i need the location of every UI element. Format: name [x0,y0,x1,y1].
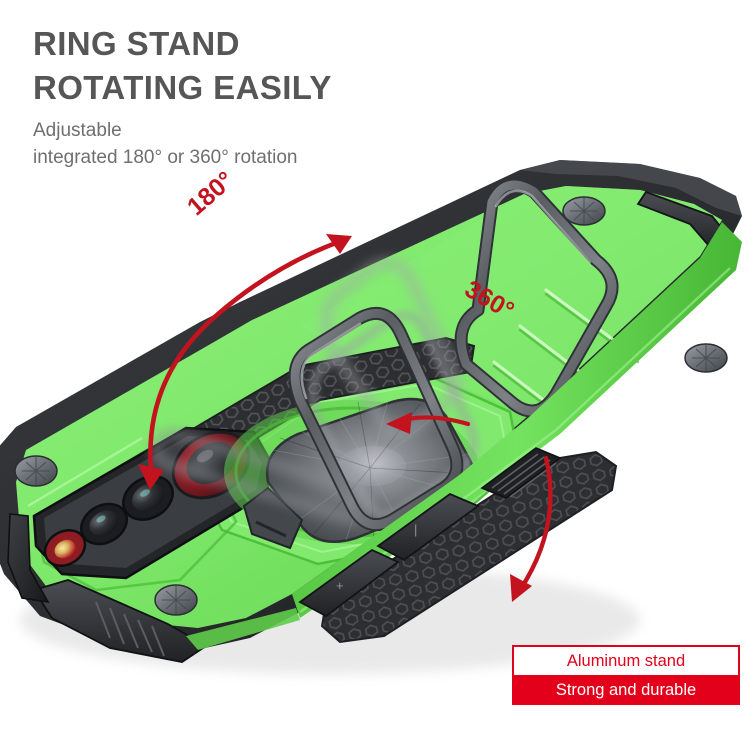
page-title: RING STAND ROTATING EASILY [33,22,573,109]
product-marketing-image: RING STAND ROTATING EASILY Adjustable in… [0,0,750,750]
headline-line-2: ROTATING EASILY [33,66,573,110]
product-photo: + | [0,150,750,710]
screw-accent [15,456,57,486]
volume-down-label: | [414,522,417,537]
banner-bottom-text: Strong and durable [514,675,738,705]
screw-accent [563,197,605,225]
headline-line-1: RING STAND [33,22,573,66]
volume-up-label: + [336,578,344,593]
screw-accent [155,585,197,615]
subtitle-line-1: Adjustable [33,118,573,145]
banner-top-text: Aluminum stand [514,647,738,675]
screw-accent [685,344,727,372]
feature-banner: Aluminum stand Strong and durable [512,645,740,705]
